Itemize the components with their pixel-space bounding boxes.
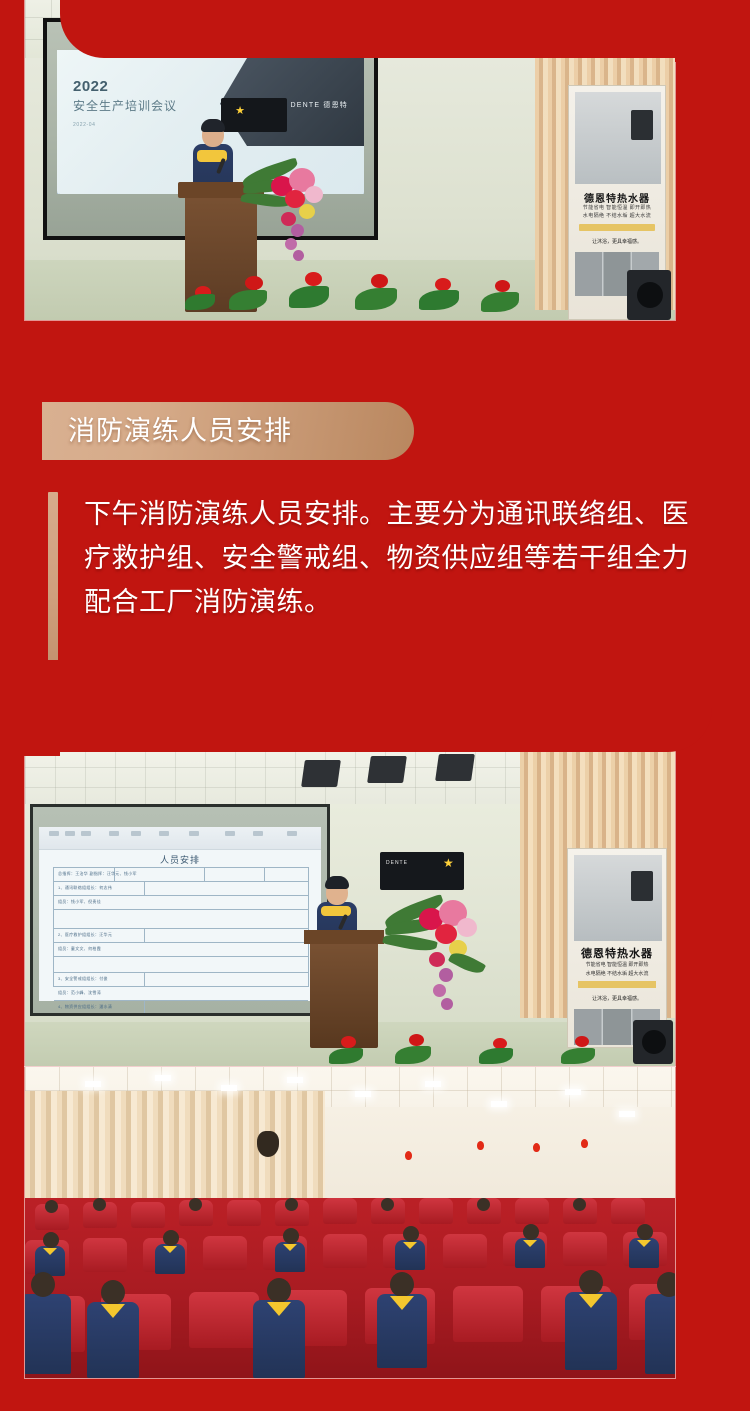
section-title-banner: 消防演练人员安排 <box>42 402 414 460</box>
ceiling-light <box>287 1077 303 1083</box>
table-row: 3、安全警戒组组长：付俊 <box>54 973 308 987</box>
section-title-text: 消防演练人员安排 <box>68 418 292 445</box>
audience-head <box>477 1198 490 1211</box>
stage-display-brand: DENTE <box>386 860 408 866</box>
audience-head <box>283 1228 299 1244</box>
audience-person <box>645 1294 675 1374</box>
ceiling-light <box>221 1085 237 1091</box>
poster-title: 德恩特热水器 <box>569 190 665 205</box>
audience-head <box>101 1280 125 1305</box>
audience-head <box>163 1230 179 1246</box>
audience-seating <box>25 1198 675 1378</box>
foreground-plants <box>325 1026 675 1066</box>
table-cell: 3、安全警戒组组长：付俊 <box>58 976 108 982</box>
flower-arrangement <box>383 896 513 1036</box>
star-logo-icon: ★ <box>443 856 454 870</box>
poster-feature-line-1: 节能省电 智能恒温 即开即热 <box>568 961 666 968</box>
ceiling-light <box>355 1091 371 1097</box>
table-cell: 4、物资供应组组长：潘水清 <box>58 1004 112 1010</box>
audience-head <box>45 1200 58 1213</box>
table-cell: 组员：钱小军、倪贵佳 <box>58 899 101 905</box>
audience-head <box>390 1272 414 1297</box>
document-slide: 人员安排 总指挥：王治华 副指挥：汪华元、钱小军 1、通讯联络组组长：何志伟 组… <box>39 827 321 1001</box>
person-head <box>326 880 348 905</box>
balloon-decoration <box>405 1151 412 1160</box>
poster-feature-line-2: 水电隔绝 不结水垢 超大水流 <box>569 212 665 219</box>
hanging-speaker-icon <box>301 760 341 787</box>
table-cell: 1、通讯联络组组长：何志伟 <box>58 885 112 891</box>
top-red-right-fill <box>675 0 750 62</box>
star-logo-icon: ★ <box>235 104 245 117</box>
middle-red-left-fill <box>0 660 60 756</box>
table-row: 组员：范小峰、沈雪涛 <box>54 987 308 1001</box>
photo-personnel-arrangement: 人员安排 总指挥：王治华 副指挥：汪华元、钱小军 1、通讯联络组组长：何志伟 组… <box>25 748 675 1066</box>
slide-year: 2022 <box>73 78 108 95</box>
photo-auditorium-audience: DENTE 励精图治 再创辉煌 <box>25 1067 675 1378</box>
audience-head <box>579 1270 603 1295</box>
microphone-icon <box>338 914 348 930</box>
poster-feature-line-2: 水电隔绝 不结水垢 超大水流 <box>568 970 666 977</box>
balloon-decoration <box>581 1139 588 1148</box>
audience-head <box>267 1278 291 1303</box>
speaker-cone-icon <box>642 1030 666 1054</box>
table-row: 1、通讯联络组组长：何志伟 <box>54 882 308 896</box>
poster-feature-line-1: 节能省电 智能恒温 即开即热 <box>569 204 665 211</box>
top-red-overlay <box>60 0 712 58</box>
left-accent-bar <box>48 492 58 682</box>
middle-red-overlay <box>0 660 712 752</box>
projection-screen: 人员安排 总指挥：王治华 副指挥：汪华元、钱小军 1、通讯联络组组长：何志伟 组… <box>30 804 330 1016</box>
ceiling-light <box>155 1075 171 1081</box>
audience-head <box>93 1198 106 1211</box>
audience-head <box>43 1232 59 1248</box>
poster-page: 2022 安全生产培训会议 2022-04 DENTE 德恩特 ★ <box>0 0 750 1411</box>
ceiling-light <box>491 1101 507 1107</box>
table-row <box>54 910 308 929</box>
slide-date: 2022-04 <box>73 122 96 128</box>
table-cell: 组员：童文文、何柏霞 <box>58 946 101 952</box>
stage-display <box>221 98 287 132</box>
poster-slogan: 让沐浴，更具幸福感。 <box>569 238 665 245</box>
office-ribbon <box>39 827 321 850</box>
audience-head <box>189 1198 202 1211</box>
ceiling-light <box>619 1111 635 1117</box>
audience-head <box>31 1272 55 1297</box>
audience-person <box>25 1294 71 1374</box>
section-body-text: 下午消防演练人员安排。主要分为通讯联络组、医疗救护组、安全警戒组、物资供应组等若… <box>84 492 696 624</box>
balloon-decoration <box>533 1143 540 1152</box>
poster-title: 德恩特热水器 <box>568 945 666 961</box>
balloon-decoration <box>477 1141 484 1150</box>
person-head <box>202 122 224 147</box>
ceiling-light <box>425 1081 441 1087</box>
table-row: 2、医疗救护组组长：汪华元 <box>54 929 308 943</box>
hanging-speaker-icon <box>435 754 475 781</box>
foreground-plants <box>185 262 585 320</box>
table-row: 4、物资供应组组长：潘水清 <box>54 1001 308 1013</box>
audience-head <box>403 1226 419 1242</box>
table-cell: 总指挥：王治华 副指挥：汪华元、钱小军 <box>58 871 137 877</box>
product-rollup-poster: 德恩特热水器 节能省电 智能恒温 即开即热 水电隔绝 不结水垢 超大水流 让沐浴… <box>567 848 667 1048</box>
audience-head <box>637 1224 653 1240</box>
speaker-cone-icon <box>637 282 663 308</box>
table-row: 组员：钱小军、倪贵佳 <box>54 896 308 910</box>
slide-brand-logo: DENTE 德恩特 <box>291 100 348 110</box>
audience-head <box>285 1198 298 1211</box>
table-row <box>54 957 308 973</box>
slide-subtitle: 安全生产培训会议 <box>73 97 177 114</box>
document-title: 人员安排 <box>39 853 321 866</box>
table-row: 总指挥：王治华 副指挥：汪华元、钱小军 <box>54 868 308 882</box>
ceiling-light <box>85 1081 101 1087</box>
audience-head <box>381 1198 394 1211</box>
audience-head <box>523 1224 539 1240</box>
ceiling-light <box>565 1089 581 1095</box>
table-cell: 2、医疗救护组组长：汪华元 <box>58 932 112 938</box>
hanging-speaker-icon <box>367 756 407 783</box>
audience-head <box>573 1198 586 1211</box>
poster-slogan: 让沐浴，更具幸福感。 <box>568 995 666 1002</box>
table-cell: 组员：范小峰、沈雪涛 <box>58 990 101 996</box>
audience-head <box>657 1272 675 1297</box>
ceiling-projector <box>257 1131 279 1157</box>
personnel-table: 总指挥：王治华 副指挥：汪华元、钱小军 1、通讯联络组组长：何志伟 组员：钱小军… <box>53 867 309 987</box>
table-row: 组员：童文文、何柏霞 <box>54 943 308 957</box>
